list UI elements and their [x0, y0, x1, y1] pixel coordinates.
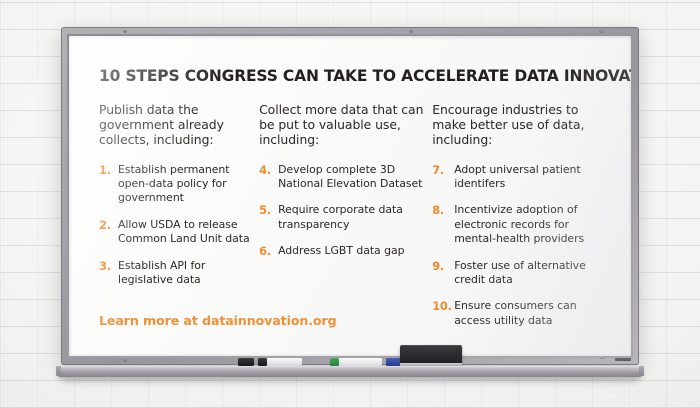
tray-end-cap-right — [639, 366, 644, 376]
steps-list: 4. Develop complete 3D National Elevatio… — [259, 163, 432, 259]
tray-end-cap-left — [56, 366, 61, 376]
step-number: 5. — [259, 203, 278, 232]
step-text: Incentivize adoption of electronic recor… — [454, 203, 609, 246]
whiteboard[interactable]: 10 STEPS CONGRESS CAN TAKE TO ACCELERATE… — [61, 27, 639, 365]
step-text: Foster use of alternative credit data — [454, 259, 609, 288]
step-text: Address LGBT data gap — [278, 244, 404, 258]
marker-tray — [58, 366, 642, 377]
board-drop-shadow — [64, 377, 636, 386]
tray-lip — [58, 366, 642, 368]
list-item[interactable]: 2. Allow USDA to release Common Land Uni… — [99, 218, 259, 247]
frame-screw-top-middle — [409, 30, 413, 33]
step-number: 10. — [432, 299, 454, 328]
frame-screw-bottom-left — [123, 359, 127, 362]
list-item[interactable]: 4. Develop complete 3D National Elevatio… — [259, 163, 432, 192]
frame-screw-top-left — [123, 30, 127, 33]
step-text: Develop complete 3D National Elevation D… — [278, 163, 432, 192]
column-heading: Encourage industries to make better use … — [432, 102, 609, 148]
step-text: Establish API for legislative data — [118, 259, 259, 288]
column-encourage-industries: Encourage industries to make better use … — [432, 102, 609, 328]
step-number: 6. — [259, 244, 278, 258]
page-title: 10 STEPS CONGRESS CAN TAKE TO ACCELERATE… — [99, 66, 586, 85]
step-text: Establish permanent open-data policy for… — [118, 163, 259, 206]
list-item[interactable]: 3. Establish API for legislative data — [99, 259, 259, 288]
step-text: Require corporate data transparency — [278, 203, 432, 232]
step-number: 9. — [432, 259, 454, 288]
column-heading: Collect more data that can be put to val… — [259, 102, 432, 148]
learn-more-link[interactable]: Learn more at datainnovation.org — [99, 313, 337, 328]
scene: 10 STEPS CONGRESS CAN TAKE TO ACCELERATE… — [0, 0, 700, 408]
whiteboard-content: 10 STEPS CONGRESS CAN TAKE TO ACCELERATE… — [99, 66, 609, 346]
column-collect-data: Collect more data that can be put to val… — [259, 102, 432, 328]
list-item[interactable]: 1. Establish permanent open-data policy … — [99, 163, 259, 206]
steps-list: 7. Adopt universal patient identifers 8.… — [432, 163, 609, 329]
step-number: 1. — [99, 163, 118, 206]
steps-list: 1. Establish permanent open-data policy … — [99, 163, 259, 288]
black-marker-object[interactable] — [258, 358, 302, 366]
list-item[interactable]: 5. Require corporate data transparency — [259, 203, 432, 232]
step-text: Allow USDA to release Common Land Unit d… — [118, 218, 259, 247]
step-text: Ensure consumers can access utility data — [454, 299, 609, 328]
whiteboard-eraser[interactable] — [400, 345, 462, 367]
green-marker-object[interactable] — [330, 358, 382, 366]
columns-container: Publish data the government already coll… — [99, 102, 609, 328]
list-item[interactable]: 6. Address LGBT data gap — [259, 244, 432, 258]
marker-cap — [330, 358, 339, 366]
column-publish-data: Publish data the government already coll… — [99, 102, 259, 328]
whiteboard-surface: 10 STEPS CONGRESS CAN TAKE TO ACCELERATE… — [69, 36, 631, 356]
column-heading: Publish data the government already coll… — [99, 102, 259, 148]
step-number: 8. — [432, 203, 454, 246]
step-number: 3. — [99, 259, 118, 288]
frame-screw-top-right — [599, 30, 603, 33]
list-item[interactable]: 9. Foster use of alternative credit data — [432, 259, 609, 288]
step-number: 4. — [259, 163, 278, 192]
step-number: 2. — [99, 218, 118, 247]
list-item[interactable]: 10. Ensure consumers can access utility … — [432, 299, 609, 328]
step-text: Adopt universal patient identifers — [454, 163, 609, 192]
list-item[interactable]: 8. Incentivize adoption of electronic re… — [432, 203, 609, 246]
black-marker-cap-object[interactable] — [238, 358, 254, 366]
marker-cap — [258, 358, 267, 366]
step-number: 7. — [432, 163, 454, 192]
list-item[interactable]: 7. Adopt universal patient identifers — [432, 163, 609, 192]
